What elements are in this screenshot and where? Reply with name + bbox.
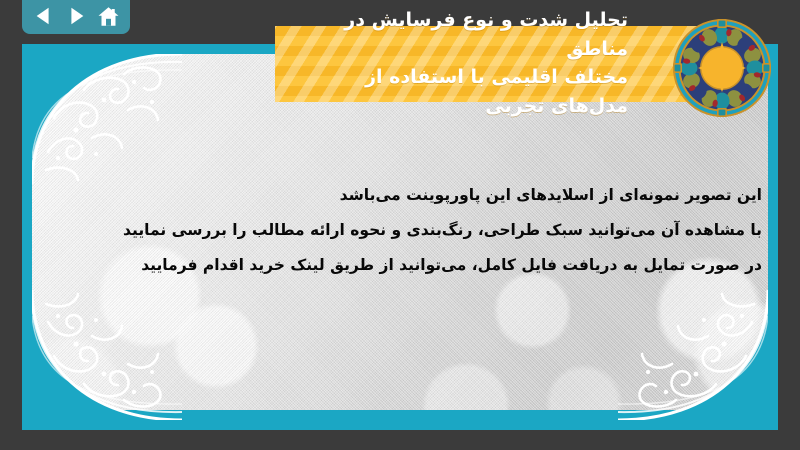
page-title: تحلیل شدت و نوع فرسایش در مناطق مختلف اق… — [289, 6, 628, 120]
body-line: در صورت تمایل به دریافت فایل کامل، می‌تو… — [62, 248, 762, 283]
arabesque-corner-icon — [32, 54, 182, 184]
arabesque-corner-icon — [618, 290, 768, 420]
body-line: با مشاهده آن می‌توانید سبک طراحی، رنگ‌بن… — [62, 213, 762, 248]
slide-body-text: این تصویر نمونه‌ای از اسلایدهای این پاور… — [62, 178, 762, 283]
slide-viewer: این تصویر نمونه‌ای از اسلایدهای این پاور… — [0, 0, 800, 450]
body-line: این تصویر نمونه‌ای از اسلایدهای این پاور… — [62, 178, 762, 213]
arabesque-corner-icon — [32, 290, 182, 420]
previous-slide-button[interactable] — [30, 4, 58, 28]
persian-medallion-icon — [672, 18, 772, 118]
home-button[interactable] — [94, 4, 122, 28]
navigation-bar — [22, 0, 130, 34]
slide-title-banner: تحلیل شدت و نوع فرسایش در مناطق مختلف اق… — [275, 26, 700, 102]
next-slide-button[interactable] — [62, 4, 90, 28]
